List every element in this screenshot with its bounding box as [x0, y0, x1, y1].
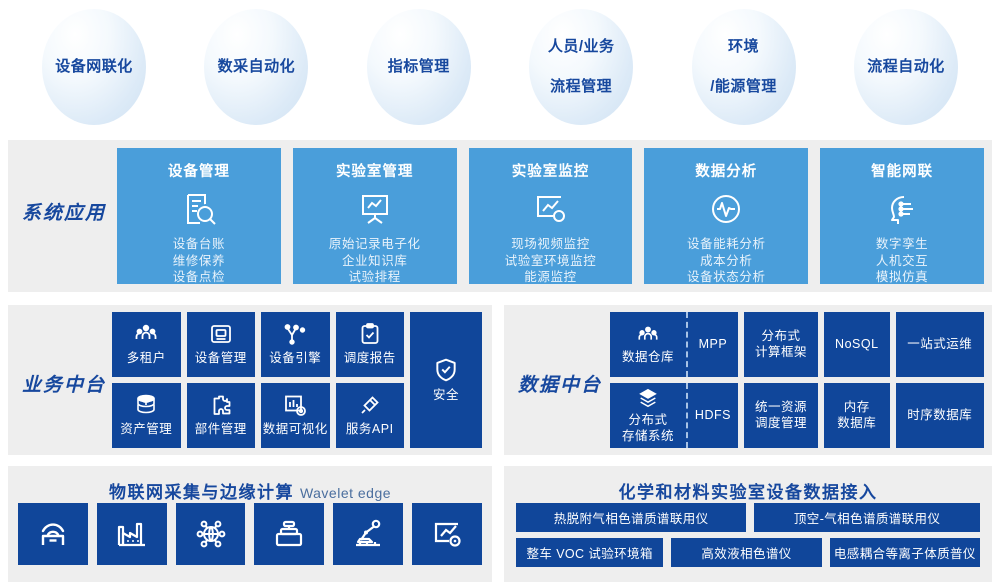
sys-card-line: 设备能耗分析	[687, 236, 766, 253]
ai-head-icon	[883, 190, 921, 228]
capability-label: 环境 /能源管理	[698, 37, 789, 98]
wifi-gateway-icon	[36, 517, 70, 551]
data-tile-label-line1: 一站式运维	[907, 337, 972, 353]
capability-ellipse-1[interactable]: 数采自动化	[204, 9, 308, 125]
sys-card-lines: 现场视频监控 试验室环境监控 能源监控	[505, 236, 597, 286]
biz-tile-schedule-report[interactable]: 调度报告	[336, 312, 405, 377]
engine-node-icon	[283, 322, 307, 346]
capability-label: 流程自动化	[861, 57, 951, 77]
chem-pill-thermal-desorption-gcms[interactable]: 热脱附气相色谱质谱联用仪	[516, 503, 746, 532]
sys-card-lab-management[interactable]: 实验室管理 原始记录电子化 企业知识库 试验排程	[293, 148, 457, 284]
biz-tile-label: 设备管理	[195, 351, 247, 367]
data-tile-label-line1: 分布式	[628, 413, 667, 428]
chem-lab-equipment: 热脱附气相色谱质谱联用仪 顶空-气相色谱质谱联用仪 整车 VOC 试验环境箱 高…	[516, 503, 980, 567]
capability-label-line1: 环境	[704, 37, 783, 57]
data-tile-label-line1: 内存	[844, 400, 870, 416]
data-tile-mpp[interactable]: MPP	[686, 312, 738, 377]
data-tile-label-line1: NoSQL	[835, 337, 879, 353]
biz-tile-label: 设备引擎	[269, 351, 321, 367]
biz-tile-label: 部件管理	[195, 422, 247, 438]
sys-card-line: 模拟仿真	[876, 269, 928, 286]
chem-lab-title: 化学和材料实验室设备数据接入	[504, 478, 992, 503]
capability-label-line2: /能源管理	[704, 77, 783, 97]
sys-card-lines: 设备能耗分析 成本分析 设备状态分析	[687, 236, 766, 286]
chart-view-icon	[283, 393, 307, 417]
data-tile-label: HDFS	[695, 408, 731, 423]
biz-tile-data-visualization[interactable]: 数据可视化	[261, 383, 330, 448]
chem-pill-voc-chamber[interactable]: 整车 VOC 试验环境箱	[516, 538, 663, 567]
sys-card-line: 能源监控	[505, 269, 597, 286]
capability-ellipse-3[interactable]: 人员/业务 流程管理	[529, 9, 633, 125]
data-tile-label-line2: 数据库	[837, 416, 876, 432]
sys-card-lines: 原始记录电子化 企业知识库 试验排程	[329, 236, 421, 286]
data-tile-timeseries-db[interactable]: 时序数据库	[896, 383, 984, 448]
capability-label: 人员/业务 流程管理	[536, 37, 627, 98]
data-tile-hdfs[interactable]: HDFS	[686, 383, 738, 448]
sensor-device-icon	[272, 517, 306, 551]
capability-label: 指标管理	[382, 57, 456, 77]
chem-pill-headspace-gcms[interactable]: 顶空-气相色谱质谱联用仪	[754, 503, 980, 532]
monitor-chart-icon	[531, 190, 569, 228]
sys-card-lines: 设备台账 维修保养 设备点检	[173, 236, 225, 286]
sys-card-line: 原始记录电子化	[329, 236, 421, 253]
chem-pill-icpms[interactable]: 电感耦合等离子体质普仪	[830, 538, 980, 567]
chem-lab-row-2: 整车 VOC 试验环境箱 高效液相色谱仪 电感耦合等离子体质普仪	[516, 538, 980, 567]
sys-card-line: 成本分析	[687, 253, 766, 270]
iot-edge-title-cn: 物联网采集与边缘计算	[109, 483, 294, 502]
iot-icon-factory[interactable]	[97, 503, 167, 565]
data-tile-label-line2: 计算框架	[755, 345, 807, 361]
iot-icon-monitor-chart[interactable]	[412, 503, 482, 565]
iot-icon-sensor-device[interactable]	[254, 503, 324, 565]
data-tile-one-stop-ops[interactable]: 一站式运维	[896, 312, 984, 377]
pulse-circle-icon	[707, 190, 745, 228]
capability-ellipse-4[interactable]: 环境 /能源管理	[692, 9, 796, 125]
data-tile-in-memory-db[interactable]: 内存 数据库	[824, 383, 890, 448]
sys-card-title: 数据分析	[695, 160, 757, 181]
device-box-icon	[209, 322, 233, 346]
sys-card-lab-monitoring[interactable]: 实验室监控 现场视频监控 试验室环境监控 能源监控	[469, 148, 633, 284]
biz-tile-device-engine[interactable]: 设备引擎	[261, 312, 330, 377]
sys-card-line: 设备点检	[173, 269, 225, 286]
data-tile-label-line1: 时序数据库	[907, 408, 972, 424]
data-tile-warehouse[interactable]: 数据仓库	[610, 312, 686, 377]
clipboard-check-icon	[358, 322, 382, 346]
sys-card-line: 数字孪生	[876, 236, 928, 253]
biz-tile-multi-tenant[interactable]: 多租户	[112, 312, 181, 377]
data-tile-label-line2: 调度管理	[755, 416, 807, 432]
multi-tenant-icon	[134, 322, 158, 346]
biz-tile-label: 资产管理	[120, 422, 172, 438]
data-warehouse-icon	[637, 324, 659, 346]
data-tile-label-line1: 统一资源	[755, 400, 807, 416]
capability-label: 数采自动化	[212, 57, 302, 77]
presentation-chart-icon	[356, 190, 394, 228]
biz-tile-label: 安全	[433, 388, 459, 404]
iot-edge-icons	[18, 503, 482, 565]
iot-icon-network-globe[interactable]	[176, 503, 246, 565]
biz-tile-security[interactable]: 安全	[410, 312, 482, 448]
sys-card-line: 企业知识库	[329, 253, 421, 270]
data-tile-label: 数据仓库	[622, 350, 674, 365]
factory-icon	[115, 517, 149, 551]
capability-ellipse-0[interactable]: 设备网联化	[42, 9, 146, 125]
data-tile-distributed-storage[interactable]: 分布式 存储系统	[610, 383, 686, 448]
data-platform-tiles: 数据仓库 MPP 分布式 计算框架 NoSQL 一站式运维	[610, 312, 984, 448]
robot-arm-icon	[351, 517, 385, 551]
data-tile-nosql[interactable]: NoSQL	[824, 312, 890, 377]
sys-card-line: 试验排程	[329, 269, 421, 286]
capability-ellipse-2[interactable]: 指标管理	[367, 9, 471, 125]
capability-label: 设备网联化	[49, 57, 139, 77]
sys-card-intelligent-network[interactable]: 智能网联 数字孪生 人机交互 模拟仿真	[820, 148, 984, 284]
sys-card-line: 设备状态分析	[687, 269, 766, 286]
document-search-icon	[180, 190, 218, 228]
sys-card-device-management[interactable]: 设备管理 设备台账 维修保养 设备点检	[117, 148, 281, 284]
data-platform-label: 数据中台	[518, 370, 602, 397]
sys-card-line: 人机交互	[876, 253, 928, 270]
biz-tile-label: 多租户	[127, 351, 166, 367]
data-tile-warehouse-mpp[interactable]: 数据仓库 MPP	[610, 312, 738, 377]
data-tile-unified-resource-scheduling[interactable]: 统一资源 调度管理	[744, 383, 818, 448]
system-application-cards: 设备管理 设备台账 维修保养 设备点检 实验室管理	[117, 148, 984, 284]
sys-card-line: 现场视频监控	[505, 236, 597, 253]
data-tile-label: MPP	[699, 337, 728, 352]
biz-tile-device-management[interactable]: 设备管理	[187, 312, 256, 377]
iot-icon-robot-arm[interactable]	[333, 503, 403, 565]
system-application-label: 系统应用	[22, 198, 106, 225]
sys-card-data-analysis[interactable]: 数据分析 设备能耗分析 成本分析 设备状态分析	[644, 148, 808, 284]
sys-card-title: 实验室管理	[336, 160, 414, 181]
chem-lab-row-1: 热脱附气相色谱质谱联用仪 顶空-气相色谱质谱联用仪	[516, 503, 980, 532]
distributed-storage-icon	[637, 387, 659, 409]
shield-check-icon	[433, 357, 459, 383]
capability-label-line1: 人员/业务	[542, 37, 621, 57]
data-tile-label-line2: 存储系统	[622, 429, 674, 444]
biz-tile-label: 服务API	[346, 422, 394, 438]
iot-edge-title: 物联网采集与边缘计算Wavelet edge	[8, 478, 492, 503]
biz-tile-service-api[interactable]: 服务API	[336, 383, 405, 448]
chem-pill-hplc[interactable]: 高效液相色谱仪	[671, 538, 821, 567]
sys-card-line: 试验室环境监控	[505, 253, 597, 270]
sys-card-lines: 数字孪生 人机交互 模拟仿真	[876, 236, 928, 286]
capability-ellipse-5[interactable]: 流程自动化	[854, 9, 958, 125]
api-link-icon	[358, 393, 382, 417]
biz-tile-asset-management[interactable]: 资产管理	[112, 383, 181, 448]
sys-card-title: 设备管理	[168, 160, 230, 181]
capability-ellipse-row: 设备网联化 数采自动化 指标管理 人员/业务 流程管理 环境 /能源管理 流程自…	[0, 0, 1000, 134]
architecture-diagram: 设备网联化 数采自动化 指标管理 人员/业务 流程管理 环境 /能源管理 流程自…	[0, 0, 1000, 588]
sys-card-line: 设备台账	[173, 236, 225, 253]
iot-icon-wifi-gateway[interactable]	[18, 503, 88, 565]
business-platform-tiles: 多租户 设备管理	[112, 312, 404, 448]
iot-edge-title-en: Wavelet edge	[300, 485, 391, 501]
puzzle-piece-icon	[209, 393, 233, 417]
network-globe-icon	[194, 517, 228, 551]
monitor-chart-icon	[430, 517, 464, 551]
sys-card-line: 维修保养	[173, 253, 225, 270]
sys-card-title: 智能网联	[871, 160, 933, 181]
biz-tile-label: 数据可视化	[263, 422, 328, 438]
data-tile-distributed-compute[interactable]: 分布式 计算框架	[744, 312, 818, 377]
business-platform-label: 业务中台	[22, 370, 106, 397]
capability-label-line2: 流程管理	[542, 77, 621, 97]
asset-database-icon	[134, 393, 158, 417]
data-tile-label-line1: 分布式	[761, 329, 800, 345]
biz-tile-component-management[interactable]: 部件管理	[187, 383, 256, 448]
data-tile-storage-hdfs[interactable]: 分布式 存储系统 HDFS	[610, 383, 738, 448]
sys-card-title: 实验室监控	[512, 160, 590, 181]
biz-tile-label: 调度报告	[344, 351, 396, 367]
